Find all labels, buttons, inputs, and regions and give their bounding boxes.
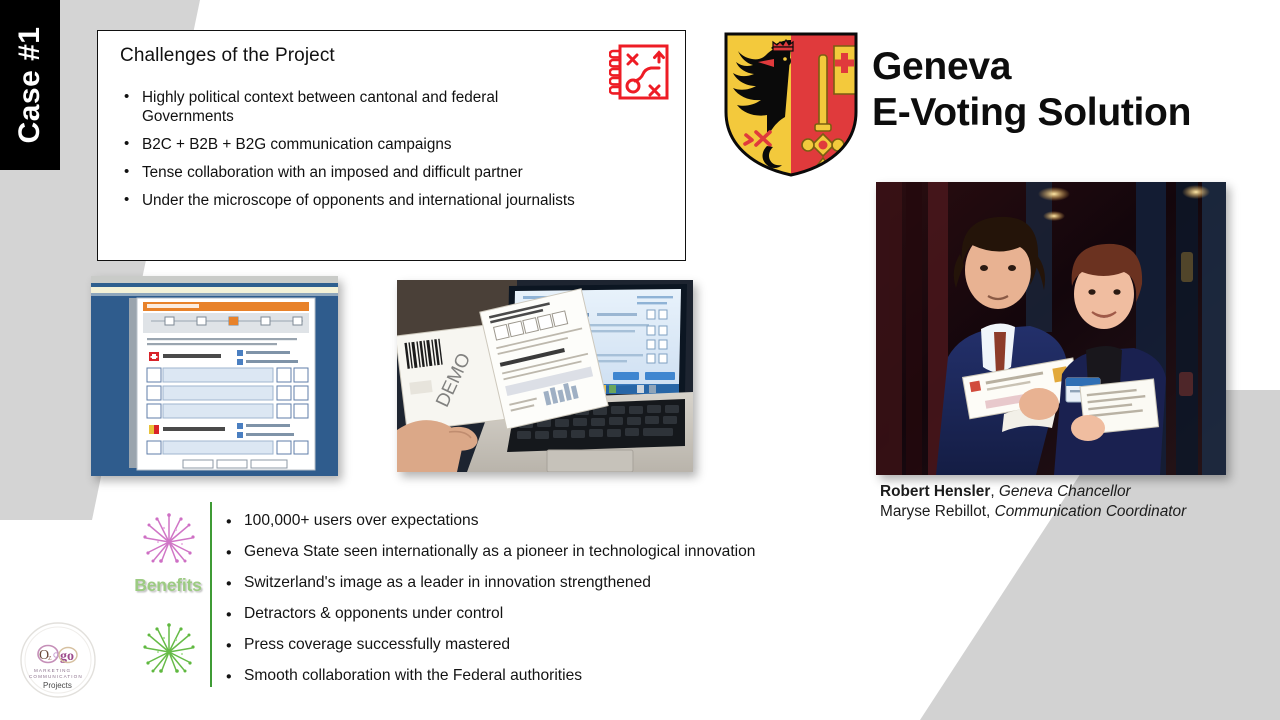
challenges-list: Highly political context between cantona… — [120, 89, 665, 211]
benefit-item: Smooth collaboration with the Federal au… — [224, 661, 904, 692]
challenge-item: Tense collaboration with an imposed and … — [120, 164, 590, 183]
case-number-badge: Case #1 — [0, 0, 60, 170]
challenges-panel: Challenges of the Project — [97, 30, 686, 261]
caption-line-2: Maryse Rebillot, Communication Coordinat… — [880, 502, 1270, 522]
title-line-2: E-Voting Solution — [872, 90, 1272, 136]
challenges-title: Challenges of the Project — [120, 45, 665, 67]
challenge-item: B2C + B2B + B2G communication campaigns — [120, 136, 590, 155]
oz-and-go-logo: O z go MARKETING COMMUNICATION Projects — [12, 614, 104, 706]
benefits-section: Benefits — [120, 500, 910, 695]
challenge-item: Highly political context between cantona… — [120, 89, 590, 127]
photo-chancellor-and-coordinator — [876, 182, 1226, 475]
photo-evoting-ballot-screen — [91, 276, 338, 476]
benefit-item: Switzerland's image as a leader in innov… — [224, 568, 904, 599]
caption-separator: , — [990, 483, 999, 500]
caption-person-1-role: Geneva Chancellor — [999, 483, 1131, 500]
page-title: Geneva E-Voting Solution — [872, 44, 1272, 136]
caption-person-1-name: Robert Hensler — [880, 483, 990, 500]
challenge-item: Under the microscope of opponents and in… — [120, 192, 590, 211]
slide-canvas: Case #1 Challenges of the Project — [0, 0, 1280, 720]
benefits-divider — [210, 502, 212, 687]
svg-text:MARKETING: MARKETING — [34, 668, 71, 673]
geneva-coat-of-arms — [712, 28, 870, 180]
benefit-item: Detractors & opponents under control — [224, 599, 904, 630]
benefit-item: 100,000+ users over expectations — [224, 506, 904, 537]
benefits-list: 100,000+ users over expectations Geneva … — [224, 506, 904, 692]
svg-text:z: z — [48, 653, 52, 662]
title-line-1: Geneva — [872, 44, 1272, 90]
firework-pink-icon — [138, 508, 200, 570]
benefit-item: Press coverage successfully mastered — [224, 630, 904, 661]
photo-caption: Robert Hensler, Geneva Chancellor Maryse… — [880, 482, 1270, 523]
photo-voting-card-and-laptop: DEMO — [397, 280, 693, 472]
caption-person-2-role: Communication Coordinator — [990, 503, 1186, 520]
svg-text:Projects: Projects — [43, 681, 72, 690]
benefit-item: Geneva State seen internationally as a p… — [224, 537, 904, 568]
caption-person-2-name: Maryse Rebillot, — [880, 503, 990, 520]
svg-text:COMMUNICATION: COMMUNICATION — [29, 674, 83, 679]
caption-line-1: Robert Hensler, Geneva Chancellor — [880, 482, 1270, 502]
benefits-label: Benefits — [128, 575, 208, 596]
firework-green-icon — [138, 618, 200, 680]
strategy-playbook-icon — [609, 41, 671, 103]
case-number-label: Case #1 — [13, 27, 47, 144]
